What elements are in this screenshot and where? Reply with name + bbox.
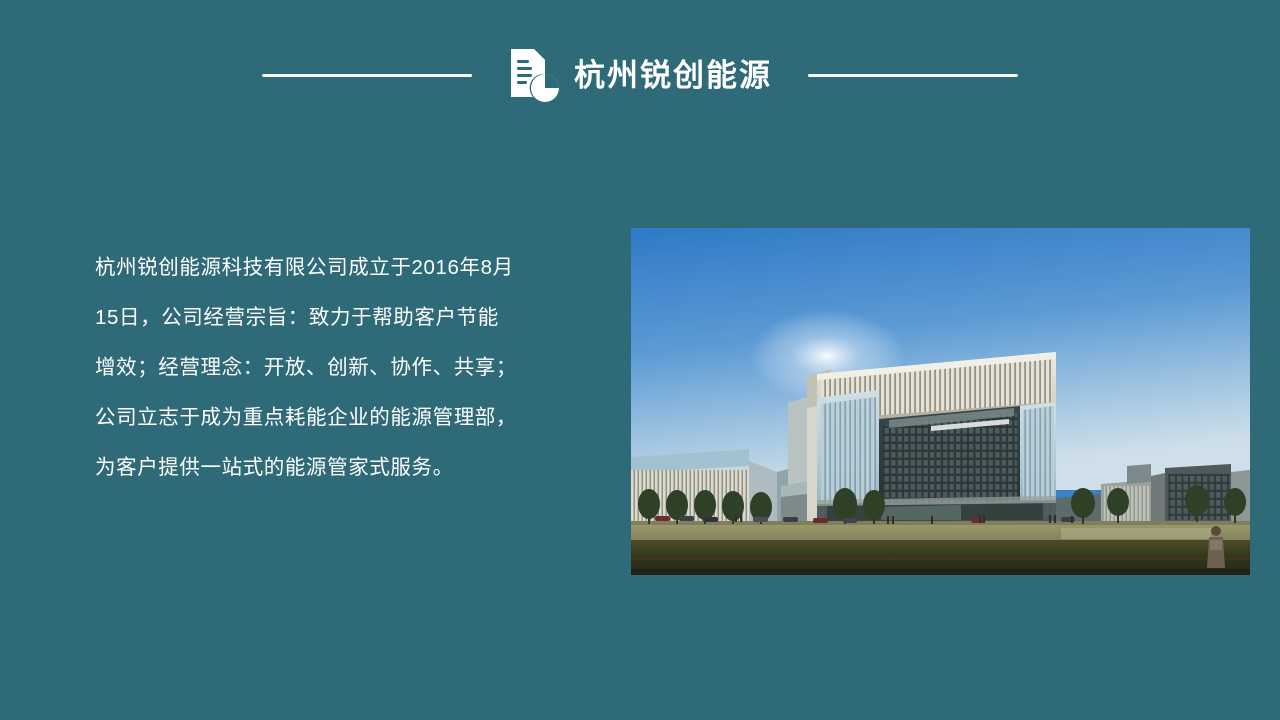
main-building [781,352,1056,524]
description-line: 增效；经营理念：开放、创新、协作、共享； [95,343,595,393]
brand-title: 杭州锐创能源 [574,60,772,91]
slide-header: 杭州锐创能源 [0,0,1280,150]
document-chart-icon [508,46,560,104]
brand: 杭州锐创能源 [508,46,772,104]
company-description: 杭州锐创能源科技有限公司成立于2016年8月 15日，公司经营宗旨：致力于帮助客… [95,243,595,493]
divider-left [262,74,472,77]
header-inner: 杭州锐创能源 [0,46,1280,104]
description-line: 公司立志于成为重点耗能企业的能源管理部， [95,393,595,443]
building-rendering [631,228,1250,575]
description-line: 杭州锐创能源科技有限公司成立于2016年8月 [95,243,595,293]
divider-right [808,74,1018,77]
description-line: 为客户提供一站式的能源管家式服务。 [95,443,595,493]
description-line: 15日，公司经营宗旨：致力于帮助客户节能 [95,293,595,343]
building-photo [631,228,1250,575]
